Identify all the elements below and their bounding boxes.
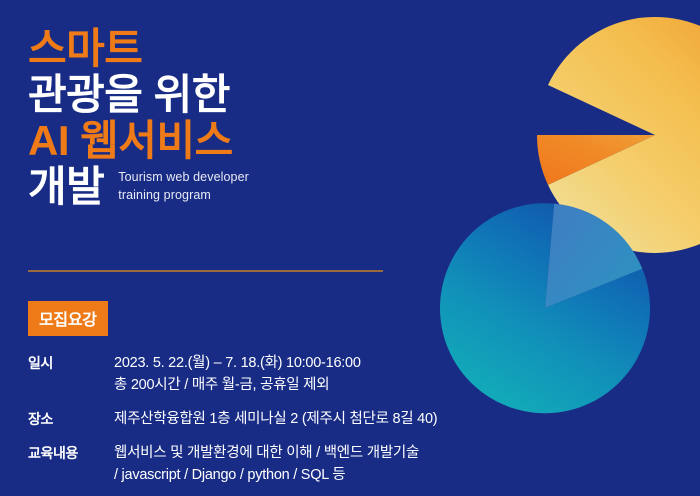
info-row-location: 장소 제주산학융합원 1층 세미나실 2 (제주시 첨단로 8길 40): [28, 408, 488, 430]
info-value-location: 제주산학융합원 1층 세미나실 2 (제주시 첨단로 8길 40): [114, 408, 488, 430]
info-label-location: 장소: [28, 408, 114, 430]
info-label-curriculum: 교육내용: [28, 442, 114, 464]
info-table: 일시 2023. 5. 22.(월) – 7. 18.(화) 10:00-16:…: [28, 352, 488, 486]
headline-last-row: 개발 Tourism web developer training progra…: [28, 164, 458, 210]
info-label-date: 일시: [28, 352, 114, 374]
headline-line-2: 관광을 위한: [28, 72, 458, 118]
orange-pie-major-slice: [548, 17, 700, 253]
blue-pie-minor-slice: [545, 204, 642, 308]
headline-block: 스마트 관광을 위한 AI 웹서비스 개발 Tourism web develo…: [28, 26, 458, 210]
english-subtitle: Tourism web developer training program: [118, 169, 249, 210]
headline-line-3: AI 웹서비스: [28, 118, 458, 164]
poster-canvas: 스마트 관광을 위한 AI 웹서비스 개발 Tourism web develo…: [0, 0, 700, 496]
section-divider: [28, 270, 383, 272]
headline-line-1: 스마트: [28, 26, 458, 72]
orange-pie-minor-slice: [537, 135, 655, 185]
info-value-curriculum: 웹서비스 및 개발환경에 대한 이해 / 백엔드 개발기술 / javascri…: [114, 442, 488, 486]
orange-pie-chart: [537, 17, 700, 253]
info-row-curriculum: 교육내용 웹서비스 및 개발환경에 대한 이해 / 백엔드 개발기술 / jav…: [28, 442, 488, 486]
info-value-date: 2023. 5. 22.(월) – 7. 18.(화) 10:00-16:00 …: [114, 352, 488, 396]
info-row-date: 일시 2023. 5. 22.(월) – 7. 18.(화) 10:00-16:…: [28, 352, 488, 396]
headline-line-4: 개발: [28, 164, 104, 210]
recruitment-badge: 모집요강: [28, 301, 108, 336]
